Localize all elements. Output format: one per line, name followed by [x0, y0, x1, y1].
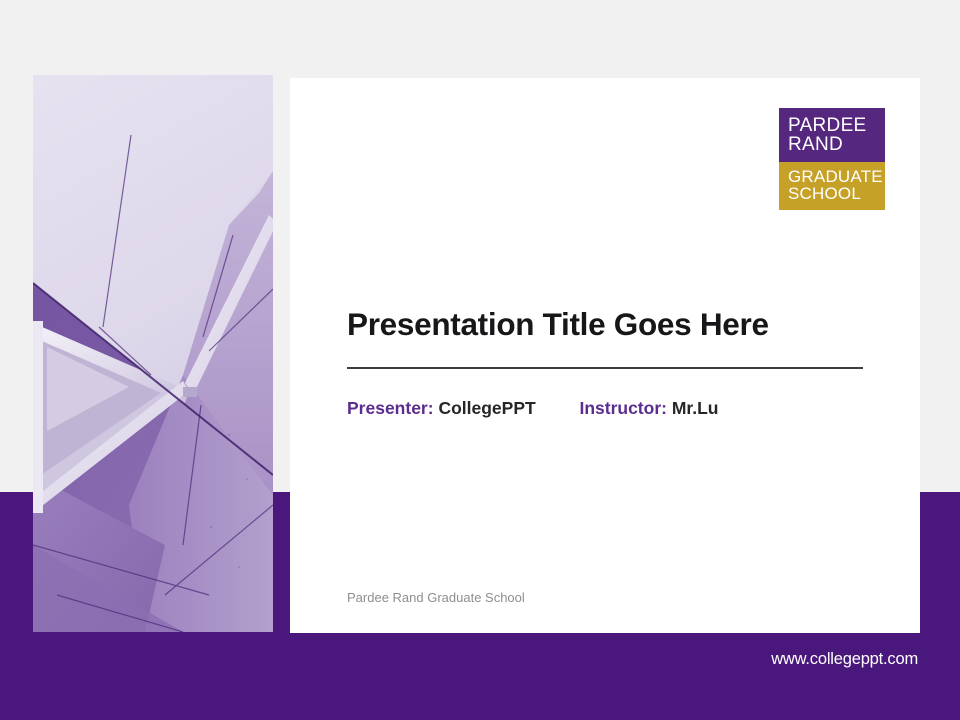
presenter-label: Presenter: — [347, 398, 434, 418]
instructor-value: Mr.Lu — [672, 398, 719, 418]
website-url: www.collegeppt.com — [771, 650, 918, 669]
title-divider-rule — [347, 367, 863, 369]
logo-bottom-block: GRADUATE SCHOOL — [779, 162, 885, 211]
logo-text-graduate: GRADUATE — [788, 168, 876, 185]
architecture-photo-graphic — [33, 75, 273, 632]
instructor-label: Instructor: — [579, 398, 667, 418]
logo-text-rand: RAND — [788, 135, 876, 154]
pardee-rand-logo: PARDEE RAND GRADUATE SCHOOL — [779, 108, 885, 210]
logo-text-pardee: PARDEE — [788, 116, 876, 135]
slide-content-card: PARDEE RAND GRADUATE SCHOOL Presentation… — [290, 78, 920, 633]
credits-line: Presenter: CollegePPT Instructor: Mr.Lu — [347, 398, 719, 419]
presenter-value: CollegePPT — [438, 398, 535, 418]
slide-footer-text: Pardee Rand Graduate School — [347, 590, 525, 605]
decorative-photo-panel — [33, 75, 273, 632]
slide-canvas: www.collegeppt.com — [0, 0, 960, 720]
logo-top-block: PARDEE RAND — [779, 108, 885, 162]
logo-text-school: SCHOOL — [788, 185, 876, 202]
presentation-title: Presentation Title Goes Here — [347, 306, 769, 343]
